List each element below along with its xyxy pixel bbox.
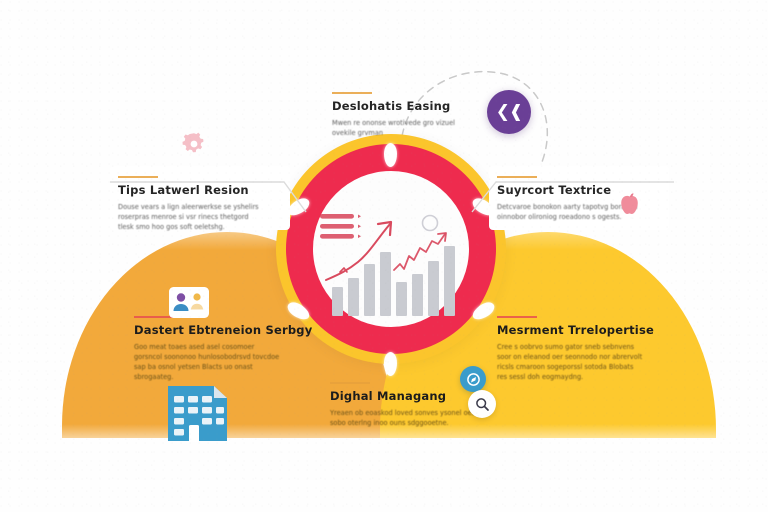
callout-rule: [118, 176, 158, 178]
purple-chevron-badge[interactable]: ❮❰: [487, 90, 531, 134]
callout-rule: [330, 382, 370, 384]
callout-body: Yreaen ob eoaskod loved sonves ysonel oe…: [330, 408, 476, 428]
apple-icon: [618, 192, 642, 218]
chart-legend: [320, 214, 361, 239]
infographic-canvas: Deslohatis Easing Mwen re ononse wrotive…: [0, 0, 768, 512]
callout-digital-managing[interactable]: Dighal Managang Yreaen ob eoaskod loved …: [330, 382, 476, 428]
callout-body: Cree s oobrvo sumo gator sneb sebnvens s…: [497, 342, 643, 382]
callout-title: Tips Latwerl Resion: [118, 184, 264, 198]
callout-body: Douse vears a lign aleerwerkse se ysheli…: [118, 202, 264, 232]
callout-body: Goo meat toaes ased asel cosomoer gorsnc…: [134, 342, 280, 382]
callout-movement-transportation[interactable]: Mesrment Trrelopertise Cree s oobrvo sum…: [497, 316, 654, 382]
search-badge[interactable]: [468, 390, 496, 418]
people-card-icon: [168, 286, 210, 319]
callout-tips-layout-design[interactable]: Tips Latwerl Resion Douse vears a lign a…: [118, 176, 264, 232]
callout-development-easing[interactable]: Deslohatis Easing Mwen re ononse wrotive…: [332, 92, 478, 138]
callout-title: Deslohatis Easing: [332, 100, 478, 114]
callout-rule: [497, 316, 537, 318]
callout-dataset-extension-strategy[interactable]: Dastert Ebtreneion Serbgy Goo meat toaes…: [134, 316, 312, 382]
callout-title: Dighal Managang: [330, 390, 476, 404]
chart-circle-marker: [423, 216, 438, 231]
callout-title: Mesrment Trrelopertise: [497, 324, 654, 338]
callout-rule: [497, 176, 537, 178]
chevron-left-icon: ❮❰: [496, 102, 523, 122]
building-icon: [165, 382, 231, 442]
center-bar-chart: [318, 208, 468, 318]
gear-icon: [180, 130, 208, 158]
callout-body: Mwen re ononse wrotivede gro vizuel ovek…: [332, 118, 478, 138]
chart-bars: [332, 246, 455, 316]
compass-icon: [467, 373, 480, 386]
callout-rule: [332, 92, 372, 94]
callout-title: Dastert Ebtreneion Serbgy: [134, 324, 312, 338]
blue-dot-badge[interactable]: [460, 366, 486, 392]
search-icon: [475, 397, 490, 412]
